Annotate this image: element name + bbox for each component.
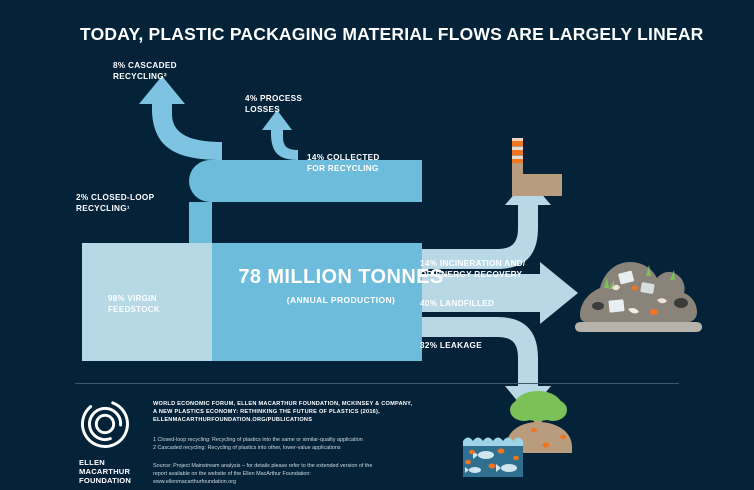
ellen-macarthur-foundation-logo-icon (79, 398, 131, 450)
closed-loop-recycling-band (189, 202, 212, 243)
landfill-pile-icon (575, 262, 702, 332)
label-collected-for-recycling: 14% COLLECTED FOR RECYCLING (307, 152, 380, 174)
process-losses-arrow (262, 110, 298, 160)
logo-wordmark: ELLEN MACARTHUR FOUNDATION (79, 459, 137, 486)
logo: ELLEN MACARTHUR FOUNDATION (75, 396, 137, 486)
source-credit: WORLD ECONOMIC FORUM, ELLEN MACARTHUR FO… (153, 400, 685, 424)
footer-divider (75, 383, 679, 384)
label-virgin-feedstock: 98% VIRGIN FEEDSTOCK (108, 294, 160, 316)
annual-production-text: 78 MILLION TONNES (ANNUAL PRODUCTION) (236, 266, 446, 305)
factory-icon (512, 138, 562, 196)
label-cascaded-recycling: 8% CASCADED RECYCLING² (113, 60, 177, 82)
footnote-2: 2 Cascaded recycling: Recycling of plast… (153, 444, 685, 452)
footnote-1: 1 Closed-loop recycling: Recycling of pl… (153, 436, 685, 444)
footnotes: 1 Closed-loop recycling: Recycling of pl… (153, 436, 685, 452)
production-subtitle: (ANNUAL PRODUCTION) (236, 295, 446, 305)
label-process-losses: 4% PROCESS LOSSES (245, 93, 302, 115)
cascaded-recycling-arrow (139, 76, 222, 160)
label-closed-loop-recycling: 2% CLOSED-LOOP RECYCLING¹ (76, 192, 154, 214)
collected-for-recycling-band (189, 160, 422, 243)
production-headline: 78 MILLION TONNES (236, 266, 446, 290)
label-leakage: 32% LEAKAGE (420, 340, 482, 351)
source-note: Source: Project Mainstream analysis – fo… (153, 462, 685, 486)
infographic-root: TODAY, PLASTIC PACKAGING MATERIAL FLOWS … (0, 0, 754, 490)
footer-credits: WORLD ECONOMIC FORUM, ELLEN MACARTHUR FO… (153, 396, 685, 486)
footer: ELLEN MACARTHUR FOUNDATION WORLD ECONOMI… (75, 396, 685, 486)
